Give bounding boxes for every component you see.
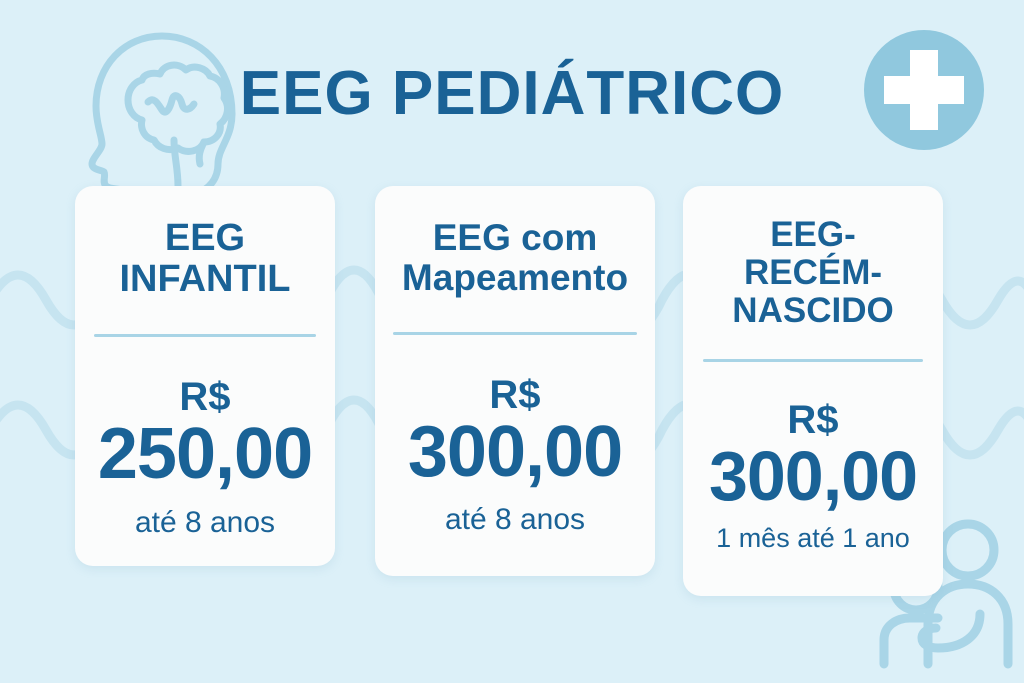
- price-card-eeg-recem-nascido[interactable]: EEG- RECÉM- NASCIDO R$ 300,00 1 mês até …: [683, 186, 943, 596]
- card-title-line: EEG com: [402, 218, 628, 258]
- currency-symbol: R$: [787, 400, 838, 440]
- card-divider: [703, 359, 923, 362]
- card-title: EEG INFANTIL: [120, 218, 291, 300]
- page-title: EEG PEDIÁTRICO: [0, 58, 1024, 129]
- age-range-note: até 8 anos: [445, 503, 585, 537]
- card-title-line: EEG-: [732, 216, 893, 254]
- card-title-line: RECÉM-: [732, 254, 893, 292]
- card-title-line: EEG: [120, 218, 291, 259]
- price-card-eeg-com-mapeamento[interactable]: EEG com Mapeamento R$ 300,00 até 8 anos: [375, 186, 655, 576]
- currency-symbol: R$: [179, 377, 230, 417]
- pricing-poster: EEG PEDIÁTRICO EEG INFANTIL R$ 250,00 at…: [0, 0, 1024, 683]
- card-title-line: NASCIDO: [732, 292, 893, 330]
- price-card-eeg-infantil[interactable]: EEG INFANTIL R$ 250,00 até 8 anos: [75, 186, 335, 566]
- price-amount: 300,00: [709, 442, 917, 511]
- card-divider: [393, 332, 637, 335]
- card-title-line: Mapeamento: [402, 258, 628, 298]
- age-range-note: até 8 anos: [135, 506, 275, 540]
- price-amount: 300,00: [408, 417, 622, 488]
- currency-symbol: R$: [489, 375, 540, 415]
- card-title: EEG com Mapeamento: [402, 218, 628, 298]
- age-range-note: 1 mês até 1 ano: [716, 523, 910, 554]
- card-title-line: INFANTIL: [120, 259, 291, 300]
- card-title: EEG- RECÉM- NASCIDO: [732, 216, 893, 329]
- card-divider: [94, 334, 316, 337]
- price-amount: 250,00: [98, 419, 312, 490]
